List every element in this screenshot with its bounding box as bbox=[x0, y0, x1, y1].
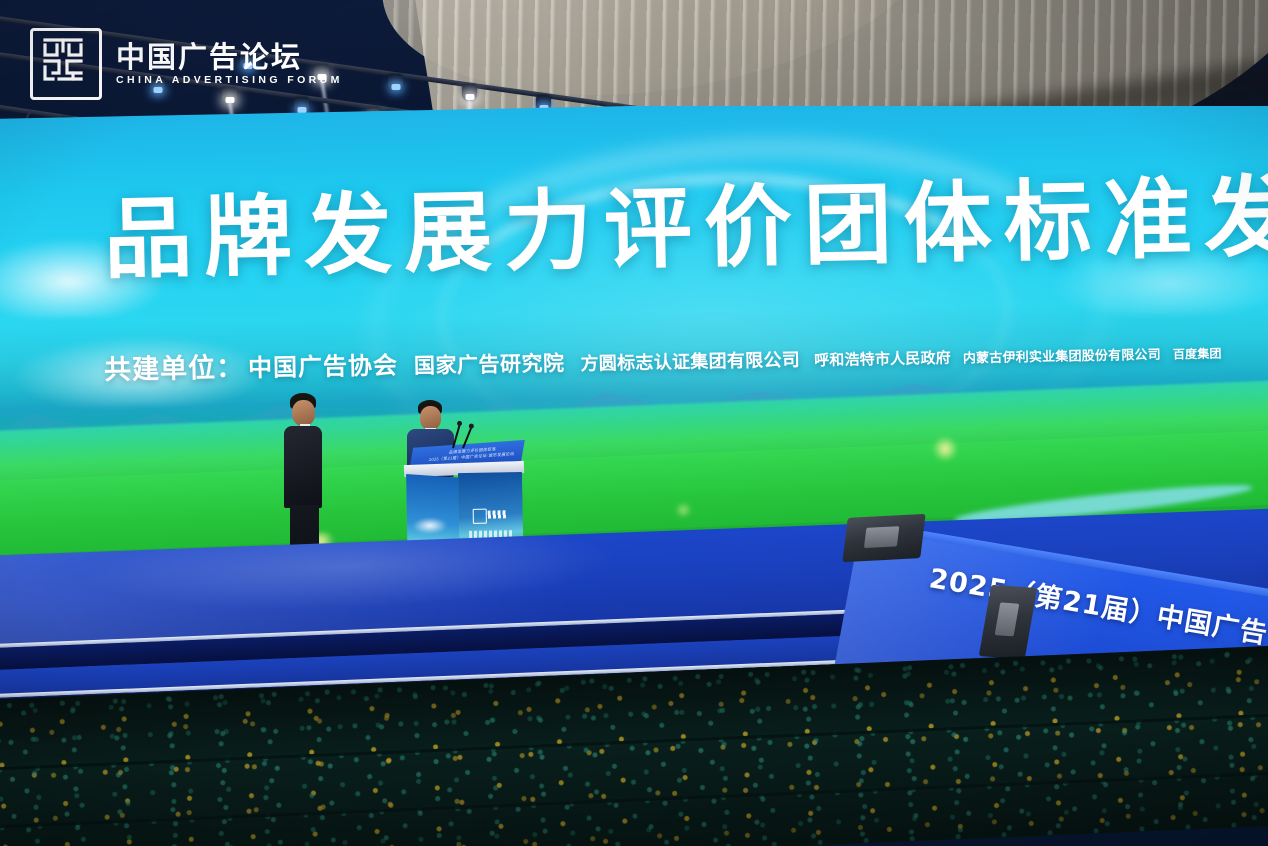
forum-seal-icon bbox=[30, 28, 102, 100]
podium-logo-mark bbox=[473, 509, 487, 524]
watermark-text: 中国广告论坛 CHINA ADVERTISING FORUM bbox=[116, 43, 343, 86]
podium-logo bbox=[473, 508, 507, 522]
led-video-wall bbox=[0, 106, 1268, 576]
watermark-logo: 中国广告论坛 CHINA ADVERTISING FORUM bbox=[30, 28, 343, 100]
screen-cloud-left bbox=[0, 235, 169, 319]
stage-monitor-left bbox=[842, 514, 925, 562]
speaker-head bbox=[420, 406, 441, 430]
screen-cloud-right bbox=[1048, 243, 1268, 318]
stage-monitor-right-grille bbox=[994, 603, 1019, 637]
stage-light-blue-icon bbox=[388, 74, 403, 91]
stage-photo-scene: 品牌发展力评价团体标准发布仪式 共建单位：中国广告协会国家广告研究院方圆标志认证… bbox=[0, 0, 1268, 846]
stage-monitor-left-grille bbox=[864, 526, 899, 548]
led-screen-surface bbox=[0, 106, 1268, 576]
watermark-chinese: 中国广告论坛 bbox=[116, 43, 343, 72]
official-head bbox=[292, 400, 315, 426]
screen-cloud-left2 bbox=[10, 333, 271, 408]
official-suit-jacket bbox=[284, 426, 322, 508]
watermark-english: CHINA ADVERTISING FORUM bbox=[116, 75, 343, 86]
podium-logo-wordmark bbox=[488, 510, 507, 518]
